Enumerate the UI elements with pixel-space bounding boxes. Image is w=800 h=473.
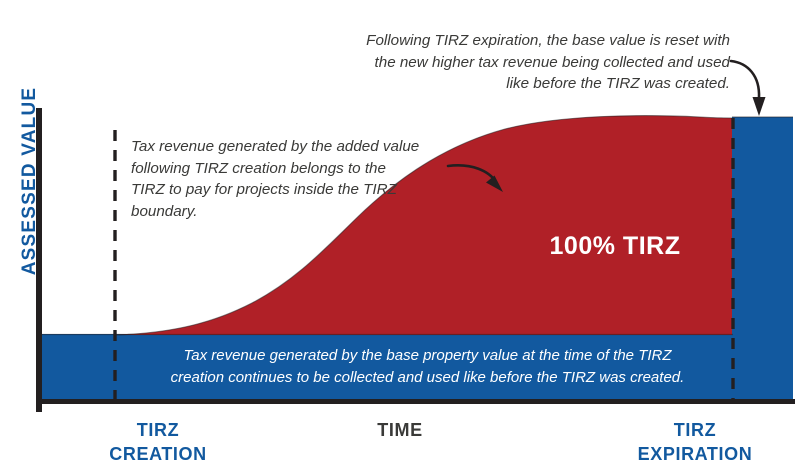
- annotation-added-value-line1: Tax revenue generated by the added value: [131, 136, 441, 158]
- annotation-post-expiration-note: Following TIRZ expiration, the base valu…: [290, 30, 730, 95]
- annotation-base-value-line2: creation continues to be collected and u…: [120, 367, 735, 389]
- x-axis-label-time: TIME: [340, 418, 460, 442]
- annotation-added-value-line4: boundary.: [131, 201, 441, 223]
- annotation-base-value-note: Tax revenue generated by the base proper…: [120, 345, 735, 389]
- annotation-post-expiration-line2: the new higher tax revenue being collect…: [290, 52, 730, 74]
- x-axis-label-tirz-creation: TIRZ CREATION: [78, 418, 238, 467]
- tirz-assessed-value-chart: ASSESSED VALUE TIRZ CREATION TIME TIRZ E…: [0, 0, 800, 473]
- tirz-share-label: 100% TIRZ: [505, 232, 725, 261]
- x-axis-label-tirz-expiration-line1: TIRZ: [674, 420, 716, 440]
- x-axis-label-tirz-expiration-line2: EXPIRATION: [600, 442, 790, 466]
- annotation-added-value-line2: following TIRZ creation belongs to the: [131, 158, 441, 180]
- annotation-added-value-line3: TIRZ to pay for projects inside the TIRZ: [131, 179, 441, 201]
- x-axis-label-tirz-expiration: TIRZ EXPIRATION: [600, 418, 790, 467]
- y-axis-title: ASSESSED VALUE: [19, 61, 41, 301]
- x-axis-label-tirz-creation-line2: CREATION: [78, 442, 238, 466]
- annotation-added-value-note: Tax revenue generated by the added value…: [131, 136, 441, 222]
- post-expiration-blue-column: [732, 117, 793, 400]
- top-annotation-arrow: [731, 61, 766, 116]
- annotation-base-value-line1: Tax revenue generated by the base proper…: [120, 345, 735, 367]
- x-axis-label-tirz-creation-line1: TIRZ: [137, 420, 179, 440]
- annotation-post-expiration-line3: like before the TIRZ was created.: [290, 73, 730, 95]
- annotation-post-expiration-line1: Following TIRZ expiration, the base valu…: [290, 30, 730, 52]
